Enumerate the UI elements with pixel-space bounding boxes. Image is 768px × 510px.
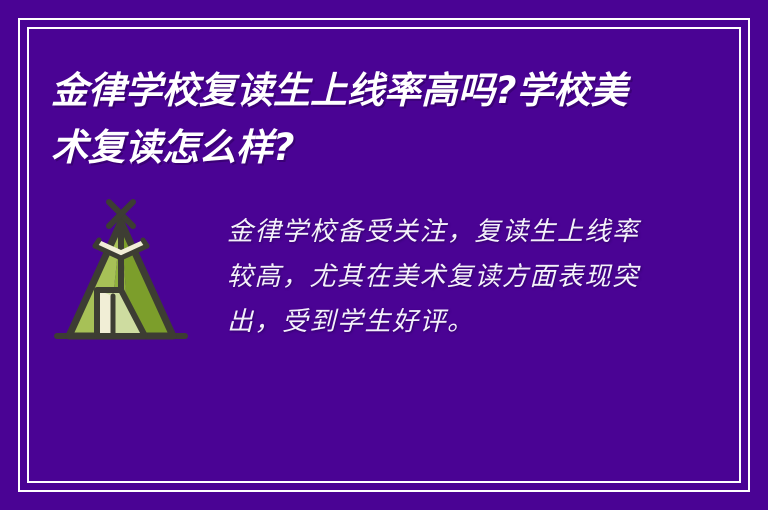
page-title: 金律学校复读生上线率高吗?学校美术复读怎么样?	[51, 62, 651, 176]
content-row: 金律学校备受关注，复读生上线率较高，尤其在美术复读方面表现突出，受到学生好评。	[51, 196, 708, 346]
poster-canvas: 金律学校复读生上线率高吗?学校美术复读怎么样?	[0, 0, 768, 510]
teepee-tent-icon	[51, 196, 191, 346]
body-paragraph: 金律学校备受关注，复读生上线率较高，尤其在美术复读方面表现突出，受到学生好评。	[227, 196, 647, 345]
